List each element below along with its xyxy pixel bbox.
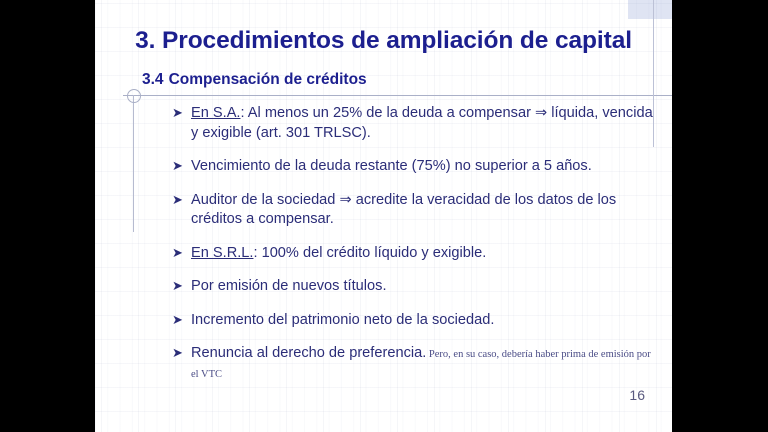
section-number: 3.4 — [142, 71, 164, 88]
list-item: ➤ En S.A.: Al menos un 25% de la deuda a… — [172, 104, 658, 143]
slide-title: 3. Procedimientos de ampliación de capit… — [95, 27, 672, 55]
decorative-circle-icon — [127, 89, 141, 103]
bullet-arrow-icon: ➤ — [172, 310, 183, 330]
bullet-text-5: Incremento del patrimonio neto de la soc… — [191, 312, 494, 328]
bullet-arrow-icon: ➤ — [172, 103, 183, 123]
header-color-band — [628, 0, 672, 19]
slide-canvas: 3. Procedimientos de ampliación de capit… — [95, 0, 672, 432]
list-item: ➤ Incremento del patrimonio neto de la s… — [172, 311, 658, 331]
bullet-text-0: : Al menos un 25% de la deuda a compensa… — [191, 105, 653, 141]
list-item: ➤ Renuncia al derecho de preferencia. Pe… — [172, 344, 658, 383]
bullet-text-3: : 100% del crédito líquido y exigible. — [253, 245, 486, 261]
decorative-vertical-rule — [133, 95, 134, 232]
bullet-text-4: Por emisión de nuevos títulos. — [191, 278, 387, 294]
bullet-arrow-icon: ➤ — [172, 276, 183, 296]
bullet-text-2: Auditor de la sociedad ⇒ acredite la ver… — [191, 192, 616, 228]
slide-section-heading: 3.4Compensación de créditos — [142, 71, 367, 89]
list-item: ➤ Auditor de la sociedad ⇒ acredite la v… — [172, 191, 658, 230]
section-title: Compensación de créditos — [169, 71, 367, 88]
decorative-horizontal-rule — [123, 95, 672, 96]
list-item: ➤ Por emisión de nuevos títulos. — [172, 277, 658, 297]
bullet-arrow-icon: ➤ — [172, 343, 183, 363]
list-item: ➤ Vencimiento de la deuda restante (75%)… — [172, 157, 658, 177]
letterbox-bar-left — [0, 0, 95, 432]
bullet-lead-0: En S.A. — [191, 105, 240, 121]
bullet-text-6: Renuncia al derecho de preferencia. — [191, 345, 426, 361]
bullet-text-1: Vencimiento de la deuda restante (75%) n… — [191, 158, 592, 174]
page-number: 16 — [629, 387, 645, 403]
list-item: ➤ En S.R.L.: 100% del crédito líquido y … — [172, 244, 658, 264]
bullet-arrow-icon: ➤ — [172, 243, 183, 263]
bullet-list: ➤ En S.A.: Al menos un 25% de la deuda a… — [172, 104, 658, 383]
bullet-arrow-icon: ➤ — [172, 156, 183, 176]
bullet-arrow-icon: ➤ — [172, 190, 183, 210]
bullet-lead-3: En S.R.L. — [191, 245, 253, 261]
presentation-slide: 3. Procedimientos de ampliación de capit… — [0, 0, 768, 432]
letterbox-bar-right — [672, 0, 768, 432]
